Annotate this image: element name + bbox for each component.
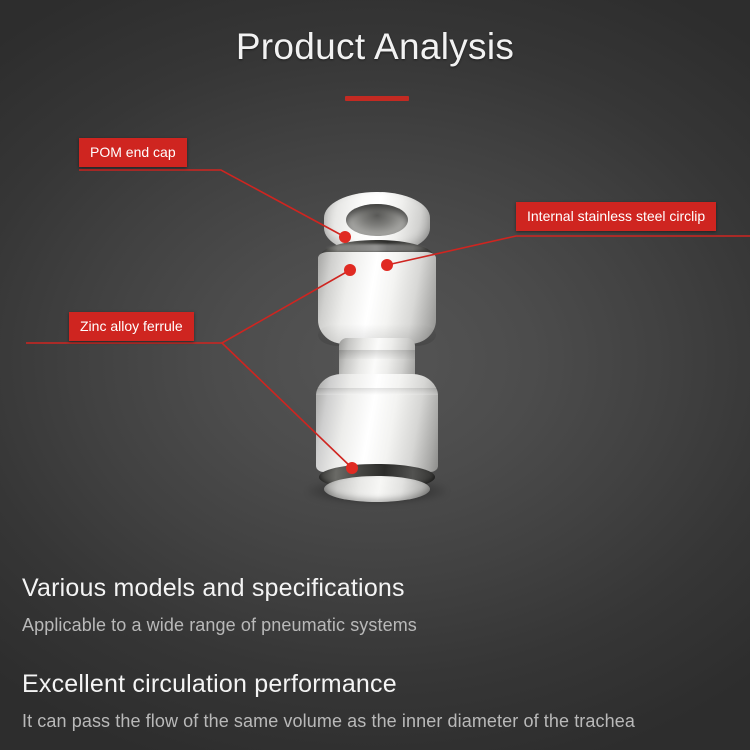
page-title: Product Analysis: [0, 26, 750, 68]
product-image: [296, 192, 456, 512]
infographic-canvas: Product Analysis POM end cap Internal st…: [0, 0, 750, 750]
circlip-highlight: [326, 244, 426, 252]
bottom-rim: [324, 476, 430, 502]
feature-subtext: It can pass the flow of the same volume …: [22, 712, 635, 730]
feature-block-circulation: Excellent circulation performance It can…: [22, 672, 635, 730]
feature-block-models: Various models and specifications Applic…: [22, 576, 417, 634]
feature-heading: Various models and specifications: [22, 576, 417, 601]
feature-heading: Excellent circulation performance: [22, 672, 635, 697]
tube-bore-opening: [346, 204, 408, 236]
callout-label-pom-end-cap[interactable]: POM end cap: [79, 138, 187, 167]
lower-barrel-ridge: [316, 388, 438, 395]
callout-label-internal-stainless-steel-circlip[interactable]: Internal stainless steel circlip: [516, 202, 716, 231]
callout-label-zinc-alloy-ferrule[interactable]: Zinc alloy ferrule: [69, 312, 194, 341]
waist-groove: [339, 350, 415, 359]
feature-subtext: Applicable to a wide range of pneumatic …: [22, 616, 417, 634]
title-underline-accent: [345, 96, 409, 101]
